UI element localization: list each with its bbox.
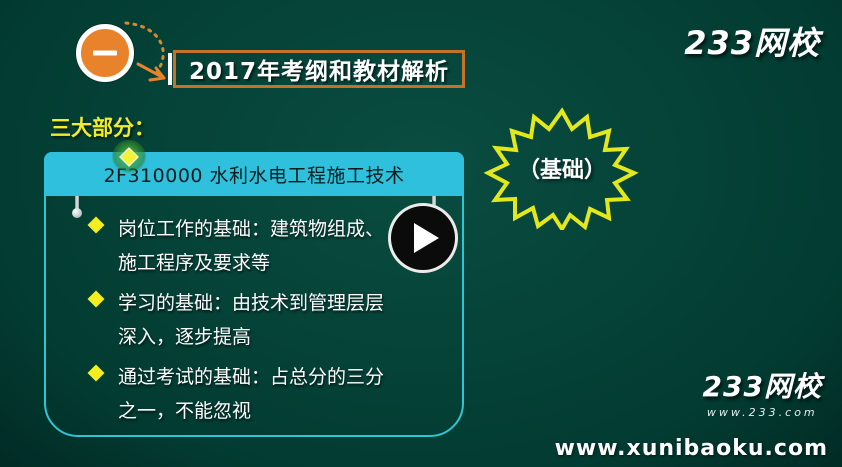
watermark-text: www.xunibaoku.com — [555, 436, 828, 461]
list-item-line: 学习的基础：由技术到管理层层 — [118, 286, 460, 320]
list-item-text: 学习的基础：由技术到管理层层 深入，逐步提高 — [90, 286, 460, 354]
brand-logo-top: 233网校 — [684, 18, 820, 64]
slide-canvas: 2017年考纲和教材解析 233网校 三大部分： 2F310000 水利水电工程… — [0, 0, 842, 467]
brand-name: 233网校 — [703, 365, 822, 405]
list-item: 通过考试的基础：占总分的三分 之一，不能忽视 — [90, 360, 460, 428]
list-item-text: 通过考试的基础：占总分的三分 之一，不能忽视 — [90, 360, 460, 428]
cursor-diamond-icon — [121, 149, 138, 166]
list-item-line: 深入，逐步提高 — [118, 320, 460, 354]
starburst-label: （基础） — [477, 105, 647, 230]
starburst-callout: （基础） — [477, 105, 647, 230]
play-triangle-icon — [414, 223, 439, 253]
list-item-line: 之一，不能忽视 — [118, 394, 460, 428]
page-title: 2017年考纲和教材解析 — [189, 52, 449, 86]
slide-title-box: 2017年考纲和教材解析 — [173, 50, 465, 88]
card-header-text: 2F310000 水利水电工程施工技术 — [103, 161, 404, 188]
brand-url: www.233.com — [703, 406, 822, 419]
brand-logo-bottom: 233网校 www.233.com — [703, 365, 822, 419]
hanger-knob — [72, 208, 82, 218]
list-item: 学习的基础：由技术到管理层层 深入，逐步提高 — [90, 286, 460, 354]
content-card: 2F310000 水利水电工程施工技术 岗位工作的基础：建筑物组成、 施工程序及… — [44, 152, 464, 437]
cursor-click-marker — [112, 140, 146, 174]
section-label: 三大部分： — [50, 112, 155, 142]
list-item-line: 通过考试的基础：占总分的三分 — [118, 360, 460, 394]
title-tick-mark — [168, 53, 172, 85]
card-header-banner: 2F310000 水利水电工程施工技术 — [44, 152, 464, 196]
play-button[interactable] — [388, 203, 458, 273]
